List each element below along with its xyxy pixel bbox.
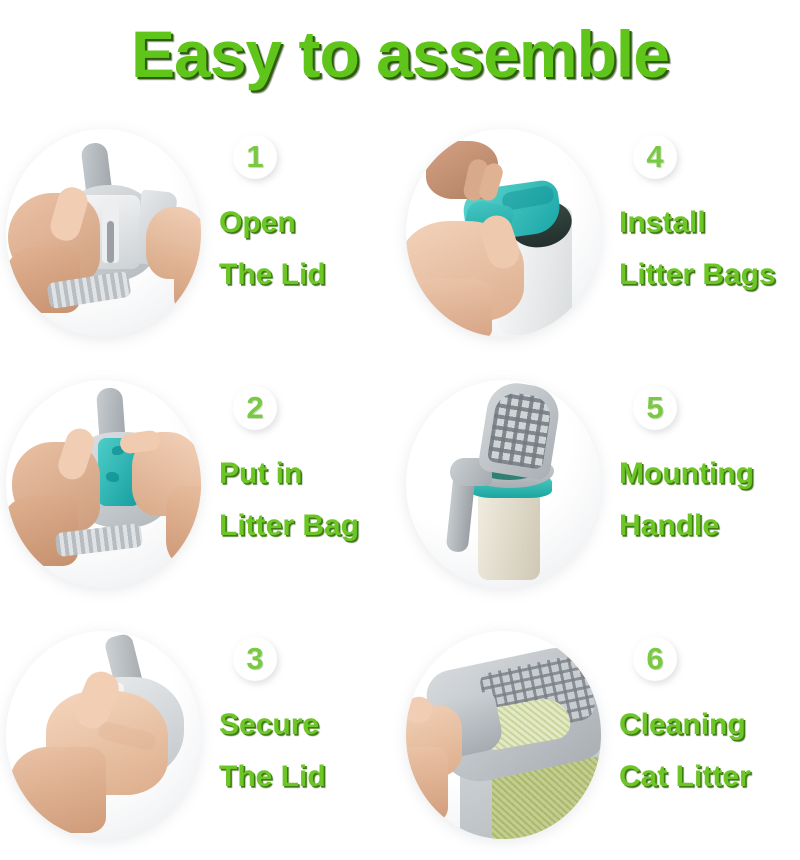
step-number-badge-6: 6 xyxy=(633,637,677,681)
illustration-put-in-litter-bag xyxy=(6,380,201,588)
caption-line-5a: Mounting xyxy=(619,448,798,500)
caption-line-4a: Install xyxy=(619,197,798,249)
caption-line-3a: Secure xyxy=(219,699,398,751)
cavity-post-icon xyxy=(107,221,114,263)
caption-line-6a: Cleaning xyxy=(619,699,798,751)
caption-lines-3: Secure The Lid xyxy=(219,699,398,803)
caption-2: 2 Put in Litter Bag xyxy=(201,380,400,588)
wrist-icon xyxy=(10,747,106,833)
caption-line-3b: The Lid xyxy=(219,751,398,803)
step-number-badge-4: 4 xyxy=(633,135,677,179)
step-5: 5 Mounting Handle xyxy=(400,359,800,610)
step-6: 6 Cleaning Cat Litter xyxy=(400,609,800,860)
caption-line-2a: Put in xyxy=(219,448,398,500)
caption-line-5b: Handle xyxy=(619,500,798,552)
step-number-badge-3: 3 xyxy=(233,637,277,681)
photo-mounting-handle xyxy=(406,380,601,588)
illustration-secure-the-lid xyxy=(6,631,201,839)
illustration-mounting-handle xyxy=(406,380,601,588)
right-wrist-icon xyxy=(166,486,201,564)
photo-put-in-litter-bag xyxy=(6,380,201,588)
step-1: 1 Open The Lid xyxy=(0,108,400,359)
lower-wrist-icon xyxy=(406,279,492,337)
caption-1: 1 Open The Lid xyxy=(201,129,400,337)
illustration-cleaning-cat-litter xyxy=(406,631,601,839)
caption-6: 6 Cleaning Cat Litter xyxy=(601,631,800,839)
caption-3: 3 Secure The Lid xyxy=(201,631,400,839)
photo-install-litter-bags xyxy=(406,129,601,337)
page-title: Easy to assemble xyxy=(131,21,669,87)
caption-5: 5 Mounting Handle xyxy=(601,380,800,588)
bag-roll-print-2-icon xyxy=(106,472,119,482)
illustration-install-litter-bags xyxy=(406,129,601,337)
step-4: 4 Install Litter Bags xyxy=(400,108,800,359)
caption-line-2b: Litter Bag xyxy=(219,500,398,552)
right-wrist-icon xyxy=(174,249,201,317)
step-3: 3 Secure The Lid xyxy=(0,609,400,860)
caption-lines-2: Put in Litter Bag xyxy=(219,448,398,552)
photo-cleaning-cat-litter xyxy=(406,631,601,839)
caption-4: 4 Install Litter Bags xyxy=(601,129,800,337)
photo-secure-the-lid xyxy=(6,631,201,839)
illustration-open-the-lid xyxy=(6,129,201,337)
step-number-badge-5: 5 xyxy=(633,386,677,430)
wrist-icon xyxy=(406,747,448,821)
caption-line-1b: The Lid xyxy=(219,249,398,301)
caption-lines-1: Open The Lid xyxy=(219,197,398,301)
photo-open-the-lid xyxy=(6,129,201,337)
step-number-badge-1: 1 xyxy=(233,135,277,179)
title-bar: Easy to assemble xyxy=(0,0,800,108)
caption-lines-6: Cleaning Cat Litter xyxy=(619,699,798,803)
page-root: { "header": { "title": "Easy to assemble… xyxy=(0,0,800,860)
caption-line-1a: Open xyxy=(219,197,398,249)
caption-line-4b: Litter Bags xyxy=(619,249,798,301)
caption-lines-5: Mounting Handle xyxy=(619,448,798,552)
caption-lines-4: Install Litter Bags xyxy=(619,197,798,301)
container-body-icon xyxy=(478,488,540,580)
step-number-badge-2: 2 xyxy=(233,386,277,430)
caption-line-6b: Cat Litter xyxy=(619,751,798,803)
step-2: 2 Put in Litter Bag xyxy=(0,359,400,610)
steps-grid: 1 Open The Lid xyxy=(0,108,800,860)
